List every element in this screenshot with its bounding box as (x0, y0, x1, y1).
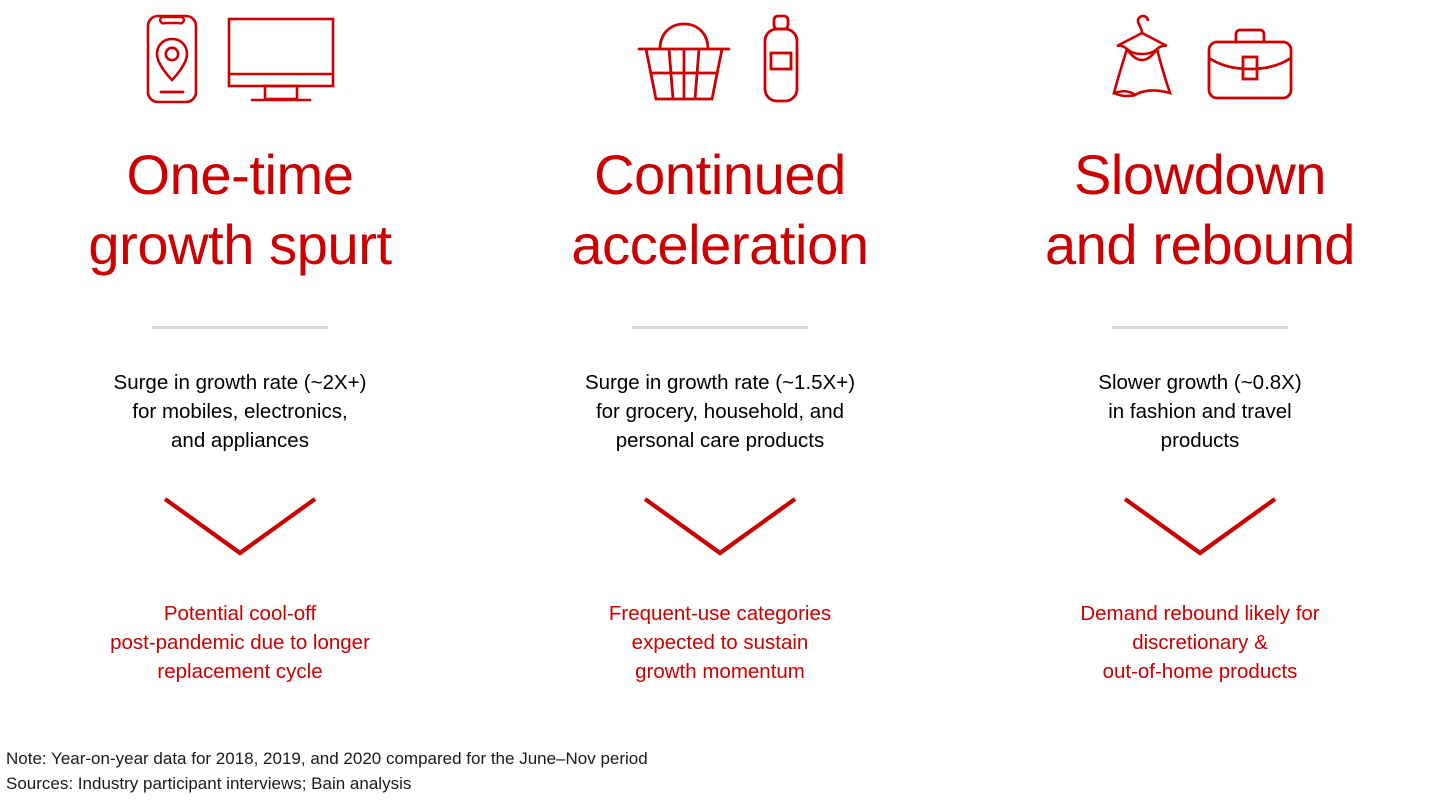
chevron-wrap (0, 495, 480, 565)
chevron-wrap (960, 495, 1440, 565)
shopping-basket-icon (636, 13, 732, 105)
chevron-down-arrow (162, 495, 318, 562)
column-conclusion: Potential cool-off post-pandemic due to … (110, 599, 370, 686)
bottle-icon (758, 13, 804, 105)
column-continued-acceleration: Continued acceleration Surge in growth r… (480, 0, 960, 686)
column-one-time-growth-spurt: One-time growth spurt Surge in growth ra… (0, 0, 480, 686)
footnotes: Note: Year-on-year data for 2018, 2019, … (6, 746, 648, 796)
column-conclusion: Demand rebound likely for discretionary … (1080, 599, 1319, 686)
briefcase-icon (1205, 13, 1295, 105)
section-divider (152, 326, 328, 329)
chevron-down-arrow (1122, 495, 1278, 562)
column-description: Surge in growth rate (~2X+) for mobiles,… (114, 368, 367, 455)
column-description: Surge in growth rate (~1.5X+) for grocer… (585, 368, 855, 455)
chevron-wrap (480, 495, 960, 565)
divider-wrap (0, 324, 480, 330)
chevron-down-arrow (642, 495, 798, 562)
divider-wrap (480, 324, 960, 330)
dress-hanger-icon (1105, 13, 1179, 105)
footnote-sources: Sources: Industry participant interviews… (6, 771, 648, 796)
section-divider (632, 326, 808, 329)
column-description: Slower growth (~0.8X) in fashion and tra… (1098, 368, 1301, 455)
desktop-monitor-icon (226, 13, 336, 105)
section-divider (1112, 326, 1288, 329)
divider-wrap (960, 324, 1440, 330)
slide-canvas: One-time growth spurt Surge in growth ra… (0, 0, 1440, 810)
column-headline: One-time growth spurt (88, 140, 391, 280)
column-headline: Slowdown and rebound (1045, 140, 1355, 280)
icon-row-column-2 (636, 0, 804, 110)
column-slowdown-and-rebound: Slowdown and rebound Slower growth (~0.8… (960, 0, 1440, 686)
column-conclusion: Frequent-use categories expected to sust… (609, 599, 831, 686)
three-column-layout: One-time growth spurt Surge in growth ra… (0, 0, 1440, 686)
icon-row-column-1 (144, 0, 336, 110)
smartphone-location-icon (144, 13, 200, 105)
icon-row-column-3 (1105, 0, 1295, 110)
footnote-note: Note: Year-on-year data for 2018, 2019, … (6, 746, 648, 771)
column-headline: Continued acceleration (571, 140, 868, 280)
